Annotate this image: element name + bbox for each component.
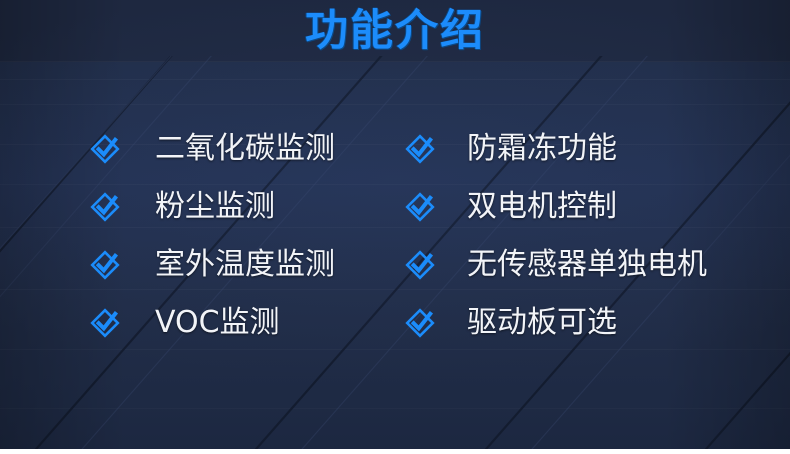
feature-item: 室外温度监测 [88,236,335,294]
check-diamond-icon [88,190,122,224]
feature-column-left: 二氧化碳监测 粉尘监测 室外温度监测 [88,120,335,352]
feature-item: 粉尘监测 [88,178,335,236]
feature-column-right: 防霜冻功能 双电机控制 无传感器单独电机 [403,120,707,352]
feature-item: 防霜冻功能 [403,120,707,178]
check-diamond-icon [88,248,122,282]
feature-label: 无传感器单独电机 [467,248,707,282]
check-diamond-icon [403,306,437,340]
check-diamond-icon [88,306,122,340]
feature-label: 驱动板可选 [467,306,617,340]
feature-label: 室外温度监测 [155,248,335,282]
page-title: 功能介绍 [305,10,485,53]
banner-title-band: 功能介绍 [0,0,790,62]
feature-label: 粉尘监测 [155,190,275,224]
feature-label: 二氧化碳监测 [155,132,335,166]
feature-item: 驱动板可选 [403,294,707,352]
feature-label: 双电机控制 [467,190,617,224]
check-diamond-icon [88,132,122,166]
bottom-divider [0,449,790,454]
feature-item: 无传感器单独电机 [403,236,707,294]
feature-label: VOC监测 [155,306,280,340]
feature-item: 双电机控制 [403,178,707,236]
feature-item: 二氧化碳监测 [88,120,335,178]
feature-introduction-banner: 功能介绍 二氧化碳监测 粉尘监测 [0,0,790,454]
check-diamond-icon [403,248,437,282]
feature-item: VOC监测 [88,294,335,352]
feature-label: 防霜冻功能 [467,132,617,166]
check-diamond-icon [403,190,437,224]
check-diamond-icon [403,132,437,166]
